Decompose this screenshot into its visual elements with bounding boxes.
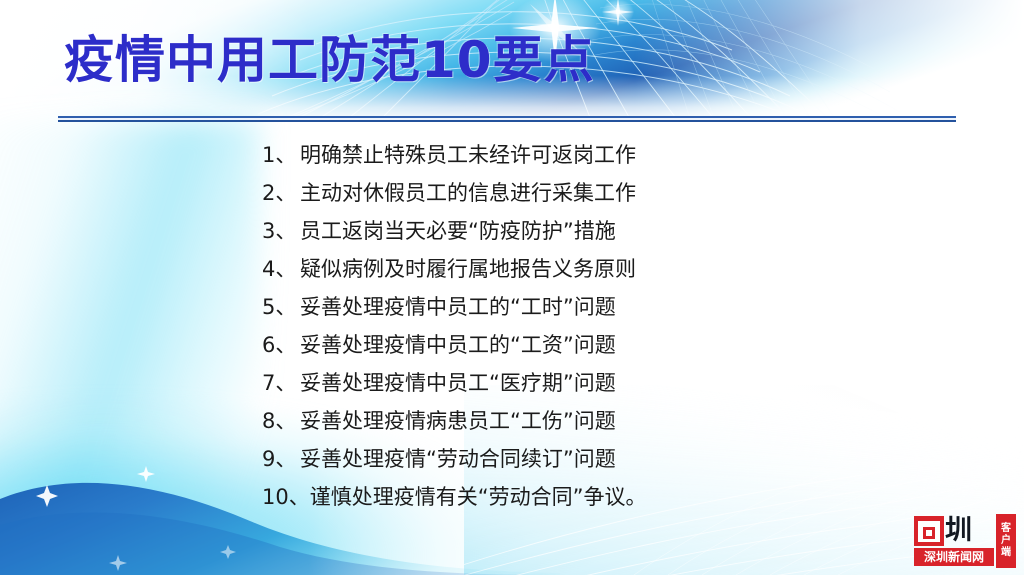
list-item-text: 妥善处理疫情中员工的“工时”问题 — [300, 288, 616, 326]
logo-app-badge: 客 户 端 — [996, 514, 1016, 568]
list-item-index: 5、 — [262, 288, 300, 326]
title-divider — [58, 116, 956, 123]
logo-badge-char-1: 客 — [1001, 523, 1011, 535]
list-item-text: 妥善处理疫情“劳动合同续订”问题 — [300, 440, 616, 478]
list-item: 8、 妥善处理疫情病患员工“工伤”问题 — [262, 402, 822, 440]
logo-badge-char-3: 端 — [1001, 547, 1011, 559]
list-item: 7、 妥善处理疫情中员工“医疗期”问题 — [262, 364, 822, 402]
list-item: 5、 妥善处理疫情中员工的“工时”问题 — [262, 288, 822, 326]
divider-rule-bottom — [58, 120, 956, 122]
logo-mark: 圳 — [914, 514, 994, 548]
list-item-index: 8、 — [262, 402, 300, 440]
logo-main: 圳 深圳新闻网 — [914, 514, 994, 568]
list-item: 9、 妥善处理疫情“劳动合同续订”问题 — [262, 440, 822, 478]
list-item-text: 谨慎处理疫情有关“劳动合同”争议。 — [310, 478, 647, 516]
list-item-index: 4、 — [262, 250, 300, 288]
list-item: 6、 妥善处理疫情中员工的“工资”问题 — [262, 326, 822, 364]
logo-glyph-red-icon — [914, 516, 944, 546]
list-item-index: 10、 — [262, 478, 310, 516]
list-item-text: 疑似病例及时履行属地报告义务原则 — [300, 250, 636, 288]
list-item-text: 妥善处理疫情中员工的“工资”问题 — [300, 326, 616, 364]
list-item-index: 7、 — [262, 364, 300, 402]
list-item-text: 妥善处理疫情病患员工“工伤”问题 — [300, 402, 616, 440]
list-item: 1、 明确禁止特殊员工未经许可返岗工作 — [262, 136, 822, 174]
list-item: 2、 主动对休假员工的信息进行采集工作 — [262, 174, 822, 212]
logo-wordmark: 深圳新闻网 — [914, 548, 994, 566]
list-item-index: 6、 — [262, 326, 300, 364]
list-item-text: 主动对休假员工的信息进行采集工作 — [300, 174, 636, 212]
list-item: 10、 谨慎处理疫情有关“劳动合同”争议。 — [262, 478, 822, 516]
list-item-index: 2、 — [262, 174, 300, 212]
shenzhen-news-logo[interactable]: 圳 深圳新闻网 客 户 端 — [914, 514, 1016, 568]
logo-glyph-dark: 圳 — [945, 516, 971, 546]
list-item-index: 1、 — [262, 136, 300, 174]
list-item: 3、 员工返岗当天必要“防疫防护”措施 — [262, 212, 822, 250]
presentation-slide: 疫情中用工防范10要点 1、 明确禁止特殊员工未经许可返岗工作 2、 主动对休假… — [0, 0, 1024, 575]
list-item-text: 明确禁止特殊员工未经许可返岗工作 — [300, 136, 636, 174]
points-list: 1、 明确禁止特殊员工未经许可返岗工作 2、 主动对休假员工的信息进行采集工作 … — [262, 136, 822, 516]
title-block: 疫情中用工防范10要点 — [64, 24, 924, 102]
logo-badge-char-2: 户 — [1001, 535, 1011, 547]
list-item-index: 9、 — [262, 440, 300, 478]
list-item: 4、 疑似病例及时履行属地报告义务原则 — [262, 250, 822, 288]
page-title: 疫情中用工防范10要点 — [64, 24, 924, 96]
list-item-text: 员工返岗当天必要“防疫防护”措施 — [300, 212, 616, 250]
list-item-index: 3、 — [262, 212, 300, 250]
list-item-text: 妥善处理疫情中员工“医疗期”问题 — [300, 364, 616, 402]
